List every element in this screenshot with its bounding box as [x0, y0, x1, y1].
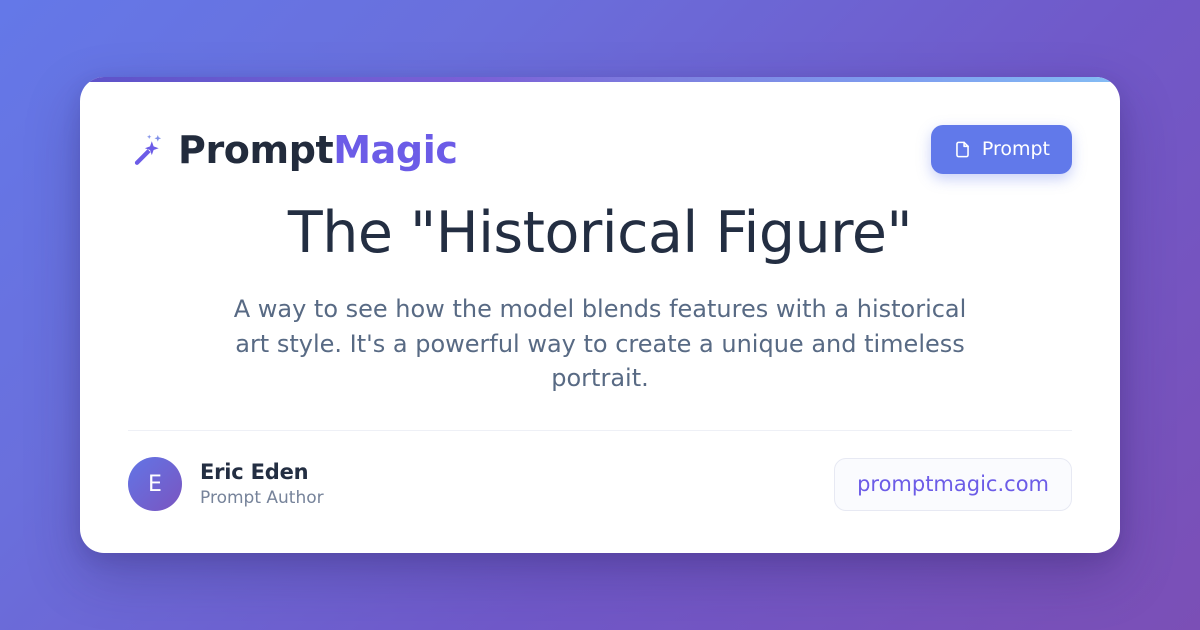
- share-card: PromptMagic Prompt The "Historical Figur…: [80, 77, 1120, 553]
- magic-wand-icon: [128, 132, 164, 168]
- page-description: A way to see how the model blends featur…: [220, 292, 980, 396]
- prompt-button-label: Prompt: [982, 140, 1050, 159]
- author-name: Eric Eden: [200, 460, 324, 485]
- brand-name-secondary: Magic: [333, 128, 457, 172]
- author-block: E Eric Eden Prompt Author: [128, 457, 324, 511]
- page-title: The "Historical Figure": [288, 202, 912, 266]
- brand-logo[interactable]: PromptMagic: [128, 131, 457, 169]
- author-role: Prompt Author: [200, 488, 324, 508]
- site-badge-label: promptmagic.com: [857, 474, 1049, 495]
- card-main-content: The "Historical Figure" A way to see how…: [128, 174, 1072, 430]
- author-meta: Eric Eden Prompt Author: [200, 460, 324, 509]
- brand-name: PromptMagic: [178, 131, 457, 169]
- card-header: PromptMagic Prompt: [128, 77, 1072, 174]
- brand-name-primary: Prompt: [178, 128, 333, 172]
- document-icon: [953, 140, 972, 159]
- site-badge[interactable]: promptmagic.com: [834, 458, 1072, 511]
- accent-gradient-bar: [80, 77, 1120, 82]
- card-footer: E Eric Eden Prompt Author promptmagic.co…: [128, 431, 1072, 553]
- prompt-button[interactable]: Prompt: [931, 125, 1072, 174]
- avatar: E: [128, 457, 182, 511]
